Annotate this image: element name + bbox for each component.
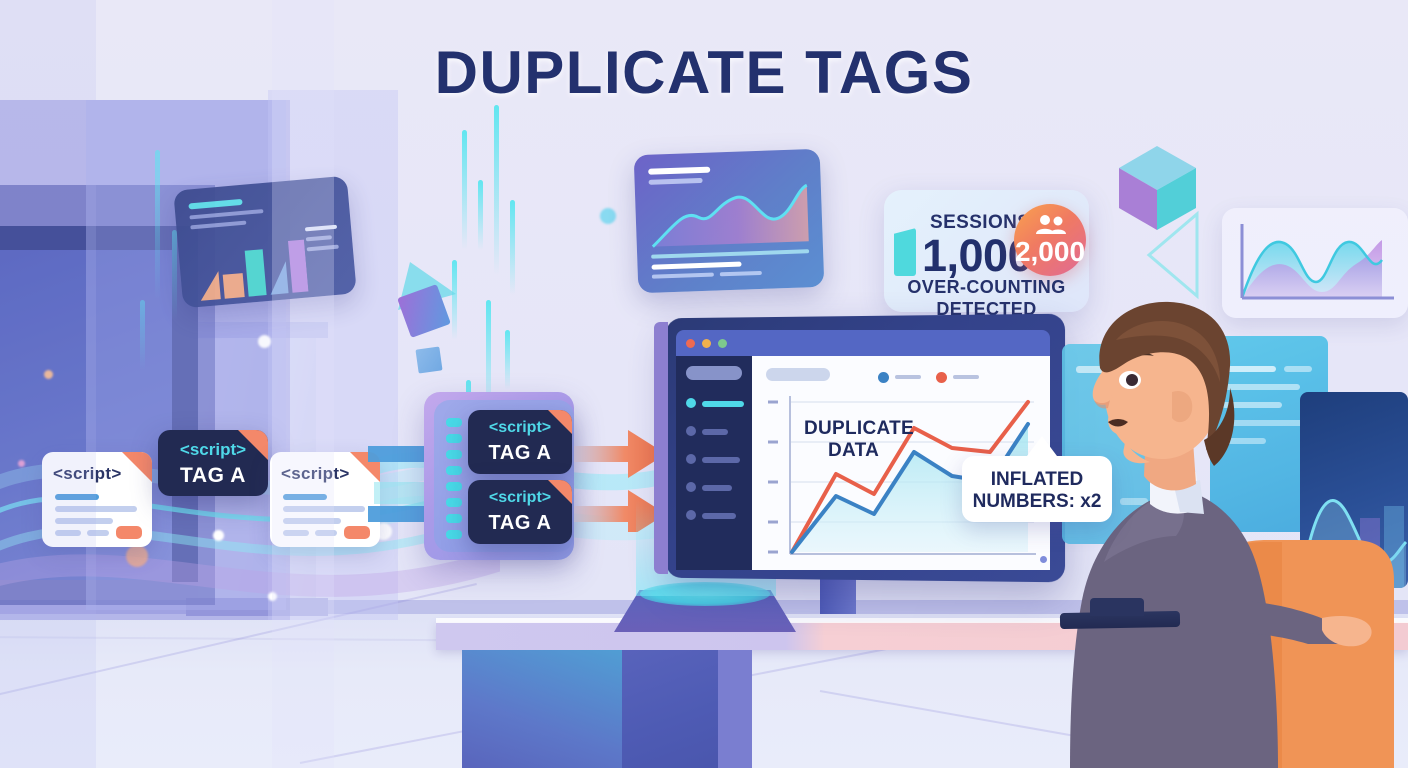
maximize-icon[interactable] — [718, 339, 727, 348]
office-worker — [1064, 300, 1408, 768]
script-tag-text: <script> — [468, 489, 572, 507]
app-sidebar — [676, 356, 752, 570]
sidebar-item-icon[interactable] — [686, 426, 696, 436]
legend-dot-inflated — [936, 372, 947, 383]
close-icon[interactable] — [686, 339, 695, 348]
script-card-dark-left[interactable]: <script> TAG A — [158, 430, 268, 496]
monitor-led — [1040, 556, 1047, 563]
sidebar-item-icon[interactable] — [686, 454, 696, 464]
chart-annotation-line2: DATA — [828, 440, 879, 462]
sidebar-item-active-label[interactable] — [702, 401, 744, 407]
legend-dot-actual — [878, 372, 889, 383]
people-icon — [1034, 214, 1068, 234]
panel-line — [190, 221, 246, 230]
accent-shape — [894, 228, 916, 276]
sessions-badge: 2,000 — [1014, 204, 1086, 276]
monitor-side-edge — [654, 322, 668, 574]
server-tag-card-2[interactable]: <script> TAG A — [468, 480, 572, 544]
digital-rain — [462, 130, 467, 250]
script-tag-text: <script> — [468, 419, 572, 437]
digital-rain — [172, 230, 177, 320]
inflated-numbers-bubble: INFLATED NUMBERS: x2 — [962, 456, 1112, 522]
sidebar-item-label[interactable] — [702, 429, 728, 435]
triangle-outline-icon — [1145, 208, 1205, 303]
eye-pupil — [1126, 374, 1138, 386]
keyboard-stand — [1090, 598, 1144, 616]
sessions-subtitle-line1: OVER-COUNTING — [884, 276, 1089, 299]
digital-rain — [140, 300, 145, 370]
server-led-strip — [444, 410, 466, 546]
sidebar-item-label[interactable] — [702, 457, 740, 463]
sidebar-item-active-icon[interactable] — [686, 398, 696, 408]
sidebar-item-icon[interactable] — [686, 482, 696, 492]
sidebar-item-icon[interactable] — [686, 510, 696, 520]
panel-line — [652, 273, 714, 279]
inflated-line1: INFLATED — [962, 468, 1112, 492]
legend-line — [895, 375, 921, 379]
legend-line — [953, 375, 979, 379]
tag-label: TAG A — [468, 442, 572, 465]
inflated-line2: NUMBERS: x2 — [962, 490, 1112, 514]
panel-line — [649, 178, 703, 185]
sessions-card: SESSIONS: 1,000 2,000 OVER-COUNTING DETE… — [884, 190, 1089, 312]
foreground-glass — [272, 0, 334, 768]
corner-fold-icon — [122, 452, 152, 482]
digital-rain — [494, 105, 499, 275]
sidebar-item-label[interactable] — [702, 513, 736, 519]
script-tag-text: <script> — [158, 440, 268, 460]
panel-divider — [651, 249, 809, 259]
digital-rain — [505, 330, 510, 390]
badge-value: 2,000 — [1014, 236, 1086, 268]
page-title: DUPLICATE TAGS — [0, 38, 1408, 107]
panel-header-line — [648, 167, 710, 175]
doc-button[interactable] — [344, 526, 370, 539]
area-chart — [649, 183, 811, 251]
glow-dot — [600, 208, 616, 224]
bubble-tail-icon — [1022, 434, 1062, 460]
panel-line — [720, 271, 762, 276]
area-chart — [1236, 220, 1400, 306]
tag-label: TAG A — [468, 512, 572, 535]
glow-dot — [258, 335, 271, 348]
desk-front-panel — [462, 650, 622, 768]
desk-right-leg — [718, 650, 752, 768]
glow-dot — [126, 545, 148, 567]
digital-rain — [510, 200, 515, 295]
chart-annotation-line1: DUPLICATE — [804, 418, 914, 440]
blue-square-shape — [415, 346, 442, 373]
panel-line — [651, 262, 741, 270]
panel-header-line — [188, 199, 242, 210]
sidebar-logo — [686, 366, 742, 380]
doc-button[interactable] — [116, 526, 142, 539]
screen-title-bar — [766, 368, 830, 381]
panel-line — [189, 209, 263, 219]
tag-label: TAG A — [158, 464, 268, 488]
glow-dot — [213, 530, 224, 541]
sidebar-item-label[interactable] — [702, 485, 732, 491]
window-titlebar — [676, 330, 1050, 356]
server-tag-card-1[interactable]: <script> TAG A — [468, 410, 572, 474]
wave-chart-panel — [634, 149, 825, 293]
minimize-icon[interactable] — [702, 339, 711, 348]
digital-rain — [155, 150, 160, 300]
illustration-canvas: DUPLICATE TAGS — [0, 0, 1408, 768]
orange-arrow-icon — [574, 430, 666, 478]
digital-rain — [478, 180, 483, 250]
foreground-glass — [0, 0, 96, 768]
